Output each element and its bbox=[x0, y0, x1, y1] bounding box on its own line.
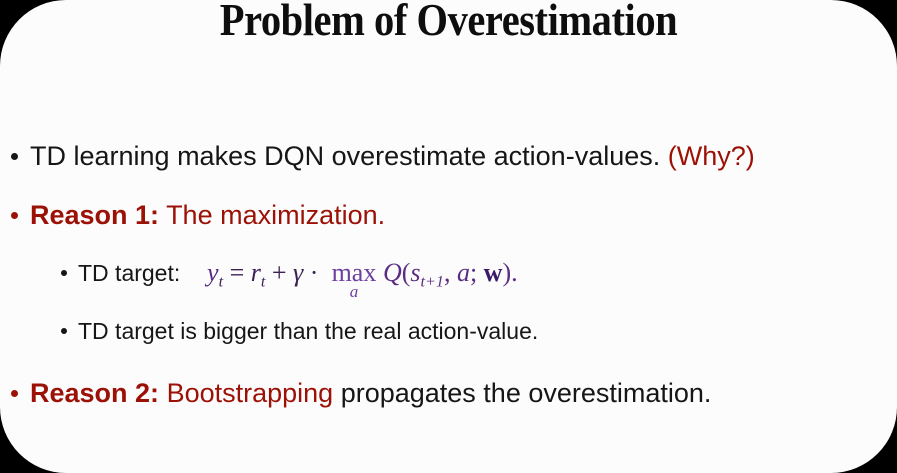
eq-gamma: γ bbox=[293, 258, 303, 287]
eq-plus: + bbox=[265, 258, 293, 287]
spacer bbox=[0, 351, 897, 371]
eq-state: s bbox=[410, 258, 420, 287]
list-item-reason-1: Reason 1: The maximization. bbox=[0, 193, 897, 237]
td-target-label: TD target: bbox=[78, 260, 180, 286]
eq-weights: w bbox=[484, 258, 503, 287]
eq-comma: , bbox=[444, 258, 457, 287]
reason-1-label: Reason 1: bbox=[30, 200, 159, 230]
list-item-td-target-bigger: TD target is bigger than the real action… bbox=[0, 311, 897, 351]
spacer bbox=[0, 293, 897, 311]
eq-equals: = bbox=[223, 258, 251, 287]
bullet-dot-icon bbox=[11, 390, 18, 397]
eq-action: a bbox=[457, 258, 470, 287]
bullet-text-main: TD learning makes DQN overestimate actio… bbox=[30, 141, 660, 171]
bullet-dot-icon bbox=[11, 153, 18, 160]
list-item-reason-2: Reason 2: Bootstrapping propagates the o… bbox=[0, 371, 897, 415]
slide-canvas: Problem of Overestimation TD learning ma… bbox=[0, 0, 897, 473]
eq-max-subscript: a bbox=[325, 272, 383, 312]
eq-r: r bbox=[251, 258, 261, 287]
bullet-dot-icon bbox=[61, 270, 67, 276]
reason-1-text: The maximization. bbox=[166, 200, 385, 230]
bullet-list: TD learning makes DQN overestimate actio… bbox=[0, 134, 897, 415]
eq-state-sub: t+1 bbox=[421, 273, 444, 290]
bullet-dot-icon bbox=[11, 212, 18, 219]
bullet-text: TD target is bigger than the real action… bbox=[78, 318, 538, 344]
eq-max-operator: maxa bbox=[325, 253, 383, 293]
reason-2-text: propagates the overestimation. bbox=[341, 378, 712, 408]
list-item-td-learning: TD learning makes DQN overestimate actio… bbox=[0, 134, 897, 178]
bullet-text-why: (Why?) bbox=[668, 141, 755, 171]
eq-q: Q bbox=[383, 258, 402, 287]
spacer bbox=[0, 237, 897, 253]
reason-2-label: Reason 2: bbox=[30, 378, 159, 408]
bullet-dot-icon bbox=[61, 328, 67, 334]
page-title: Problem of Overestimation bbox=[45, 0, 852, 46]
eq-y: y bbox=[207, 258, 219, 287]
list-item-td-target-formula: TD target: yt = rt + γ · maxaQ(st+1, a; … bbox=[0, 253, 897, 293]
eq-close-paren: ) bbox=[502, 258, 511, 287]
reason-2-highlight: Bootstrapping bbox=[167, 378, 334, 408]
td-target-equation: yt = rt + γ · maxaQ(st+1, a; w). bbox=[207, 258, 518, 287]
spacer bbox=[0, 178, 897, 193]
eq-semicolon: ; bbox=[470, 258, 484, 287]
eq-dot: · bbox=[303, 258, 325, 287]
eq-period: . bbox=[511, 258, 518, 287]
